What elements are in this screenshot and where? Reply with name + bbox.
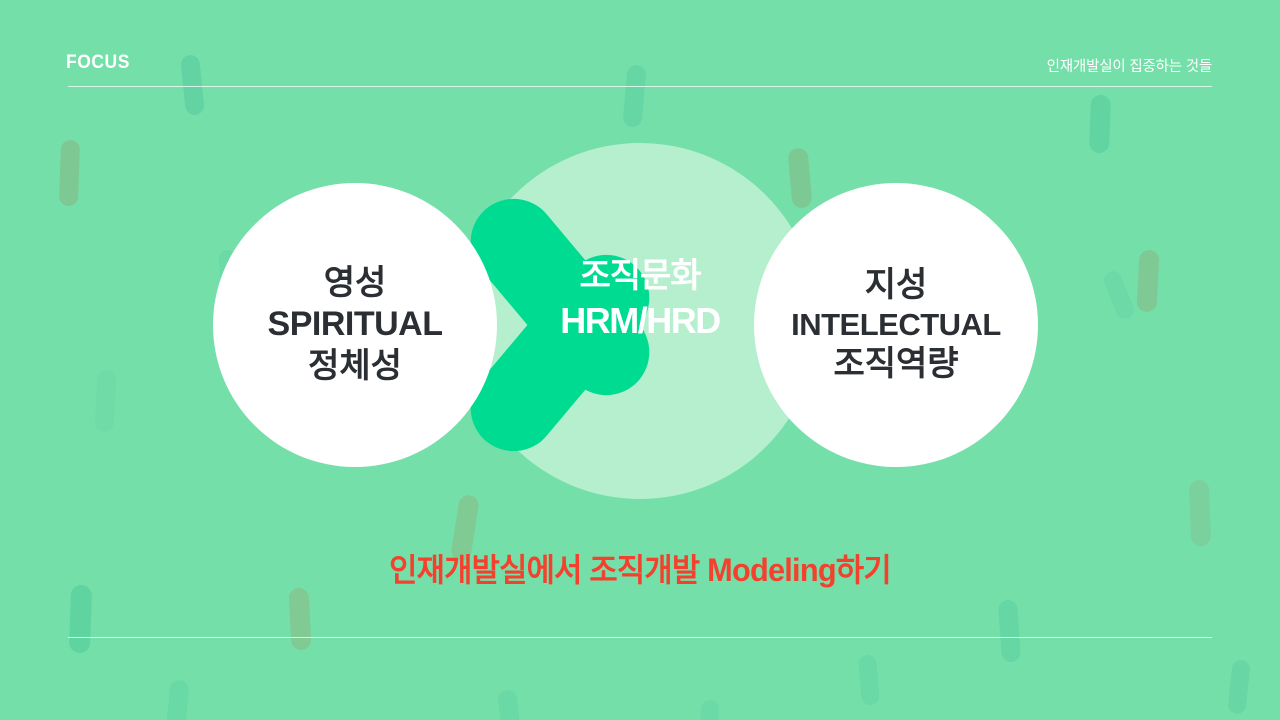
decorative-blob — [998, 599, 1021, 662]
decorative-blob — [698, 699, 719, 720]
decorative-blob — [858, 654, 880, 705]
header-divider-line — [68, 86, 1212, 87]
decorative-blob — [1101, 268, 1136, 321]
pillar-left-korean-subtitle: 정체성 — [308, 346, 402, 387]
decorative-blob — [1189, 480, 1211, 547]
chevron-right-icon — [505, 180, 775, 470]
decorative-blob — [59, 140, 80, 207]
decorative-blob — [622, 64, 646, 127]
pillar-left-korean-title: 영성 — [324, 263, 387, 304]
decorative-blob — [1136, 250, 1159, 313]
decorative-blob — [166, 679, 190, 720]
pillar-right-korean-title: 지성 — [865, 265, 928, 306]
pillar-circle-right[interactable]: 지성 INTELECTUAL 조직역량 — [754, 183, 1038, 467]
decorative-blob — [787, 147, 812, 209]
pillar-right-english-title: INTELECTUAL — [791, 306, 1001, 344]
header-eyebrow-focus: FOCUS — [66, 52, 130, 74]
decorative-blob — [94, 370, 116, 433]
decorative-blob — [180, 54, 205, 116]
pillar-right-korean-subtitle: 조직역량 — [833, 344, 958, 385]
slide-caption: 인재개발실에서 조직개발 Modeling하기 — [26, 545, 1255, 591]
decorative-blob — [497, 689, 522, 720]
slide-root: FOCUS 인재개발실이 집중하는 것들 영성 SPIRITUAL 정체성 지성… — [0, 0, 1280, 720]
decorative-blob — [1227, 659, 1251, 715]
pillar-left-english-title: SPIRITUAL — [268, 304, 443, 345]
decorative-blob — [1089, 95, 1111, 154]
pillar-circle-left[interactable]: 영성 SPIRITUAL 정체성 — [213, 183, 497, 467]
decorative-blob — [69, 585, 92, 654]
footer-divider-line — [68, 637, 1212, 638]
header-subtitle: 인재개발실이 집중하는 것들 — [1047, 55, 1212, 76]
decorative-blob — [288, 588, 311, 651]
